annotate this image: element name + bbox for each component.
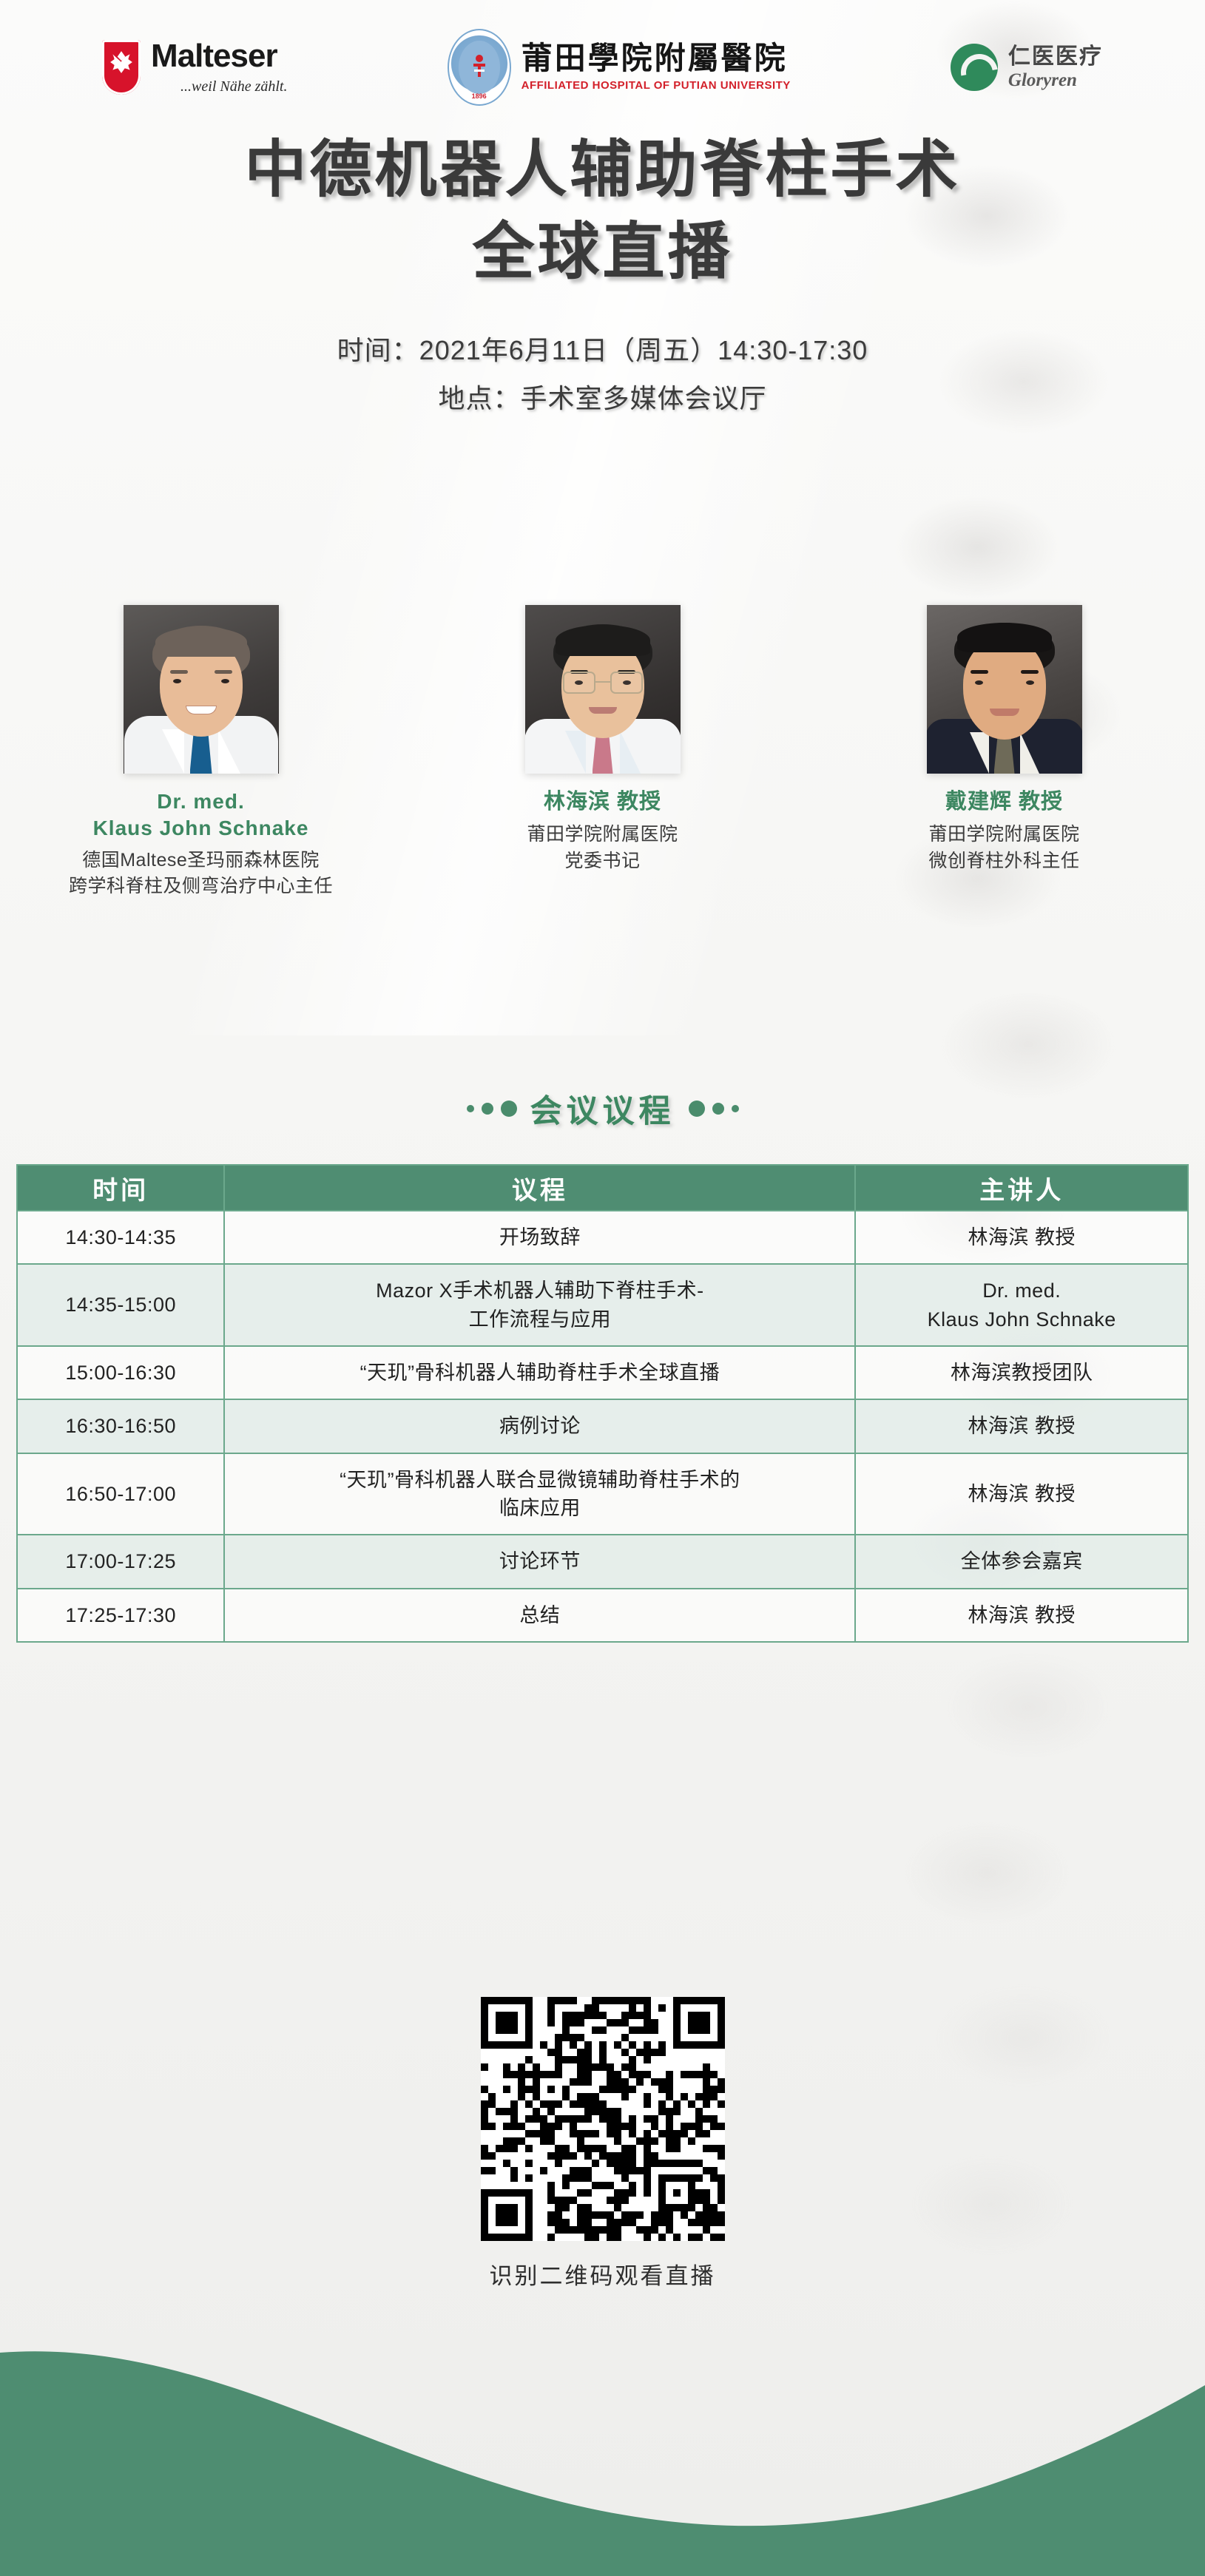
putian-name-cn: 莆田學院附屬醫院 <box>522 43 791 75</box>
table-row: 14:35-15:00 Mazor X手术机器人辅助下脊柱手术- 工作流程与应用… <box>17 1264 1188 1346</box>
logo-gloryren: 仁医医疗 Gloryren <box>951 44 1103 91</box>
column-header-time: 时间 <box>17 1165 224 1211</box>
footer-waves <box>0 2332 1205 2576</box>
speaker-card: 戴建辉 教授 莆田学院附属医院 微创脊柱外科主任 <box>831 605 1178 874</box>
speaker-name: 戴建辉 教授 <box>831 788 1178 816</box>
logo-malteser: Malteser ...weil Nähe zählt. <box>102 40 287 95</box>
gloryren-swirl-icon <box>951 44 998 91</box>
cell-topic: 开场致辞 <box>224 1211 855 1264</box>
cell-time: 17:00-17:25 <box>17 1535 224 1588</box>
speaker-portrait-1 <box>124 605 279 774</box>
putian-seal-icon: 1896 <box>448 29 511 106</box>
glasses-icon <box>563 672 643 694</box>
agenda-heading: 会议议程 <box>0 1086 1205 1132</box>
table-row: 16:50-17:00 “天玑”骨科机器人联合显微镜辅助脊柱手术的 临床应用 林… <box>17 1453 1188 1535</box>
event-place: 地点：手术室多媒体会议厅 <box>0 384 1205 413</box>
cell-speaker: 林海滨 教授 <box>855 1453 1188 1535</box>
event-time: 时间：2021年6月11日（周五）14:30-17:30 <box>0 336 1205 365</box>
speaker-name-line-2: Klaus John Schnake <box>27 815 375 842</box>
title-block: 中德机器人辅助脊柱手术 全球直播 时间：2021年6月11日（周五）14:30-… <box>0 130 1205 413</box>
cell-speaker: 全体参会嘉宾 <box>855 1535 1188 1588</box>
qr-code-image <box>481 1997 725 2241</box>
malteser-wordmark: Malteser <box>151 40 287 72</box>
cell-speaker: 林海滨教授团队 <box>855 1346 1188 1399</box>
qr-caption: 识别二维码观看直播 <box>0 2257 1205 2291</box>
cell-time: 16:30-16:50 <box>17 1399 224 1453</box>
speaker-portrait-2 <box>525 605 681 774</box>
table-row: 15:00-16:30 “天玑”骨科机器人辅助脊柱手术全球直播 林海滨教授团队 <box>17 1346 1188 1399</box>
logo-bar: Malteser ...weil Nähe zählt. 1896 莆田學院附屬… <box>0 27 1205 108</box>
speaker-affiliation-line-2: 跨学科脊柱及侧弯治疗中心主任 <box>27 873 375 900</box>
table-row: 14:30-14:35 开场致辞 林海滨 教授 <box>17 1211 1188 1264</box>
gloryren-name-cn: 仁医医疗 <box>1008 44 1103 69</box>
malteser-slogan: ...weil Nähe zählt. <box>180 78 287 95</box>
poster-canvas: Malteser ...weil Nähe zählt. 1896 莆田學院附屬… <box>0 0 1205 2576</box>
table-row: 17:25-17:30 总结 林海滨 教授 <box>17 1589 1188 1642</box>
ornament-dots-left <box>467 1101 517 1117</box>
speaker-card: Dr. med. Klaus John Schnake 德国Maltese圣玛丽… <box>27 605 375 900</box>
speaker-affiliation-line-1: 德国Maltese圣玛丽森林医院 <box>27 848 375 874</box>
cell-speaker: 林海滨 教授 <box>855 1399 1188 1453</box>
column-header-speaker: 主讲人 <box>855 1165 1188 1211</box>
cell-topic: 讨论环节 <box>224 1535 855 1588</box>
wave-dark <box>0 2351 1205 2576</box>
agenda-heading-label: 会议议程 <box>530 1086 675 1132</box>
speaker-affiliation-line-1: 莆田学院附属医院 <box>831 822 1178 848</box>
cell-time: 15:00-16:30 <box>17 1346 224 1399</box>
cell-time: 16:50-17:00 <box>17 1453 224 1535</box>
speaker-card: 林海滨 教授 莆田学院附属医院 党委书记 <box>429 605 777 874</box>
speaker-affiliation-line-2: 微创脊柱外科主任 <box>831 848 1178 875</box>
gloryren-name-en: Gloryren <box>1008 70 1103 91</box>
speaker-affiliation: 莆田学院附属医院 党委书记 <box>429 822 777 874</box>
speaker-affiliation: 德国Maltese圣玛丽森林医院 跨学科脊柱及侧弯治疗中心主任 <box>27 848 375 900</box>
table-row: 16:30-16:50 病例讨论 林海滨 教授 <box>17 1399 1188 1453</box>
speaker-affiliation-line-1: 莆田学院附属医院 <box>429 822 777 848</box>
cell-time: 17:25-17:30 <box>17 1589 224 1642</box>
ornament-dots-right <box>689 1101 739 1117</box>
cell-topic: Mazor X手术机器人辅助下脊柱手术- 工作流程与应用 <box>224 1264 855 1346</box>
logo-putian-hospital: 1896 莆田學院附屬醫院 AFFILIATED HOSPITAL OF PUT… <box>448 29 791 106</box>
table-row: 17:00-17:25 讨论环节 全体参会嘉宾 <box>17 1535 1188 1588</box>
cell-topic: “天玑”骨科机器人辅助脊柱手术全球直播 <box>224 1346 855 1399</box>
putian-emblem-glyph <box>470 53 489 81</box>
agenda-table: 时间 议程 主讲人 14:30-14:35 开场致辞 林海滨 教授 14:35-… <box>16 1164 1189 1643</box>
putian-seal-year: 1896 <box>449 92 510 100</box>
cell-topic: 病例讨论 <box>224 1399 855 1453</box>
speaker-affiliation: 莆田学院附属医院 微创脊柱外科主任 <box>831 822 1178 874</box>
putian-name-en: AFFILIATED HOSPITAL OF PUTIAN UNIVERSITY <box>522 79 791 92</box>
maltese-cross-icon <box>109 50 134 75</box>
qr-code[interactable] <box>481 1997 725 2241</box>
speaker-list: Dr. med. Klaus John Schnake 德国Maltese圣玛丽… <box>0 605 1205 900</box>
cell-topic: 总结 <box>224 1589 855 1642</box>
table-header-row: 时间 议程 主讲人 <box>17 1165 1188 1211</box>
speaker-name: 林海滨 教授 <box>429 788 777 816</box>
cell-topic: “天玑”骨科机器人联合显微镜辅助脊柱手术的 临床应用 <box>224 1453 855 1535</box>
putian-seal-emblem <box>459 41 500 94</box>
qr-section: 识别二维码观看直播 <box>0 1997 1205 2291</box>
cell-speaker: 林海滨 教授 <box>855 1589 1188 1642</box>
speaker-affiliation-line-2: 党委书记 <box>429 848 777 875</box>
speaker-name-line-1: Dr. med. <box>27 788 375 815</box>
speaker-portrait-3 <box>927 605 1082 774</box>
cell-time: 14:30-14:35 <box>17 1211 224 1264</box>
cell-speaker: Dr. med. Klaus John Schnake <box>855 1264 1188 1346</box>
column-header-topic: 议程 <box>224 1165 855 1211</box>
cell-speaker: 林海滨 教授 <box>855 1211 1188 1264</box>
malteser-shield-icon <box>102 40 141 95</box>
speaker-name: Dr. med. Klaus John Schnake <box>27 788 375 842</box>
cell-time: 14:35-15:00 <box>17 1264 224 1346</box>
poster-title-line-2: 全球直播 <box>0 212 1205 294</box>
poster-title-line-1: 中德机器人辅助脊柱手术 <box>0 130 1205 212</box>
